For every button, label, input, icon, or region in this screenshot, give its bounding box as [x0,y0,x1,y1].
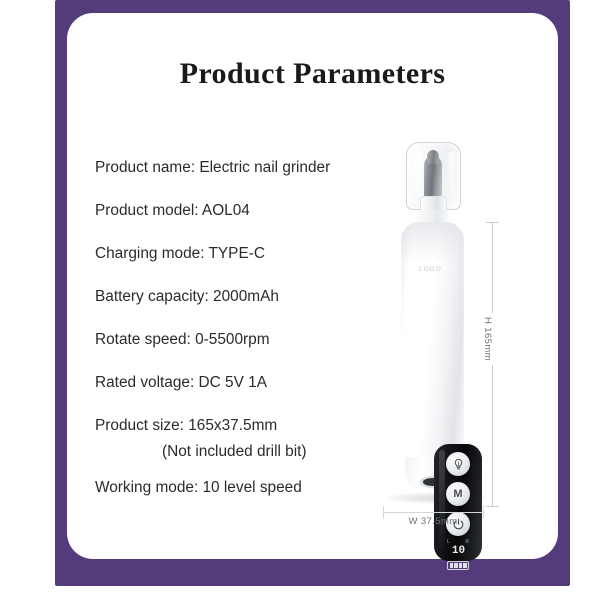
grinder-bit-tip [427,150,439,164]
spec-row-product-model: Product model: AOL04 [95,201,395,244]
panel-highlight [439,450,445,550]
device-body: LOGO M [401,222,464,490]
spec-row-drill-bit-note: (Not included drill bit) [95,442,395,478]
height-dimension-label: H 165mm [482,313,493,365]
battery-indicator [447,561,469,570]
spec-row-working-mode: Working mode: 10 level speed [95,478,395,521]
spec-row-battery-capacity: Battery capacity: 2000mAh [95,287,395,330]
width-dimension-line [383,512,483,513]
mode-button[interactable]: M [446,482,470,506]
width-dimension-label: W 37.5mm [383,516,483,527]
height-tick-bottom [486,506,499,507]
spec-row-product-size: Product size: 165x37.5mm [95,416,395,442]
speed-display: 10 [447,545,470,558]
light-button[interactable] [446,452,470,476]
battery-bar [459,563,463,568]
cap-highlight-left [414,149,422,197]
spec-row-product-name: Product name: Electric nail grinder [95,158,395,201]
page-title: Product Parameters [67,57,558,91]
body-top-shading [401,222,464,262]
spec-row-rated-voltage: Rated voltage: DC 5V 1A [95,373,395,416]
spec-row-charging-mode: Charging mode: TYPE-C [95,244,395,287]
spec-row-rotate-speed: Rotate speed: 0-5500rpm [95,330,395,373]
mode-button-label: M [453,489,462,500]
logo-text: LOGO [419,266,442,273]
product-parameters-infographic: Product Parameters Product name: Electri… [0,0,600,600]
control-panel: M L R 10 [434,444,482,561]
battery-bar [454,563,458,568]
battery-bar [450,563,454,568]
spec-list: Product name: Electric nail grinder Prod… [95,158,395,521]
cap-highlight-right [449,152,454,194]
battery-bar [463,563,467,568]
lightbulb-icon [452,458,465,471]
width-tick-right [483,506,484,519]
